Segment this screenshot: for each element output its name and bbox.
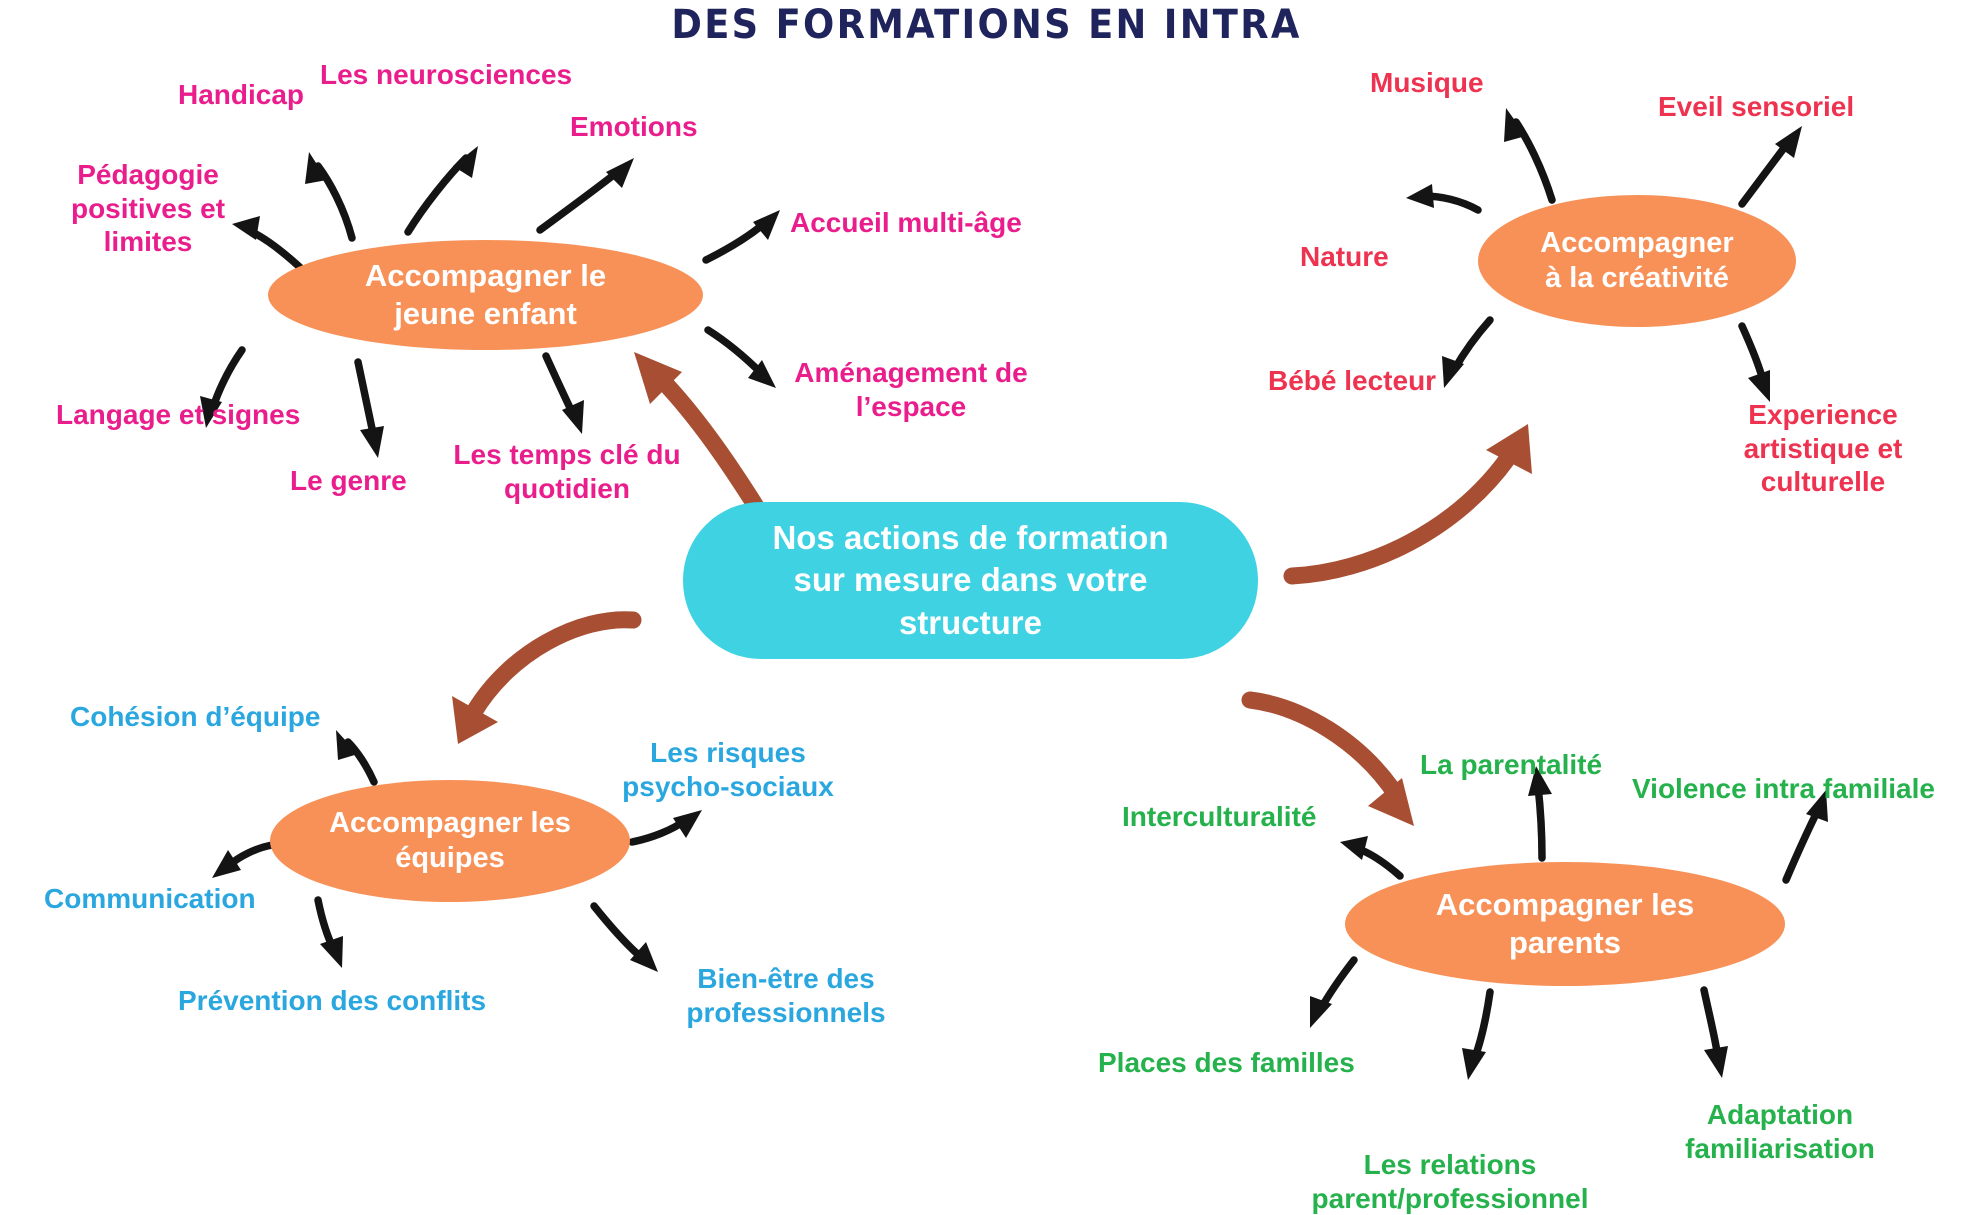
center-node-line1: Nos actions de formation <box>772 519 1168 556</box>
leaf-accueil-multi-age[interactable]: Accueil multi-âge <box>790 206 1022 240</box>
arrow-creativite-to-eveil-sensoriel <box>1742 126 1802 204</box>
branch-line2: parents <box>1509 925 1621 960</box>
brown-arrow-to-creativite <box>1292 424 1532 576</box>
arrow-jeune-enfant-to-amenagement <box>708 330 776 388</box>
arrow-parents-to-relations <box>1462 992 1490 1080</box>
arrow-equipes-to-communication <box>212 845 272 878</box>
branch-line1: Accompagner le <box>365 258 606 293</box>
leaf-bien-etre[interactable]: Bien-être des professionnels <box>678 962 894 1029</box>
arrow-parents-to-places-familles <box>1310 960 1354 1028</box>
leaf-musique[interactable]: Musique <box>1370 66 1484 100</box>
branch-line2: équipes <box>395 842 505 874</box>
leaf-bebe-lecteur[interactable]: Bébé lecteur <box>1268 364 1436 398</box>
branch-line2: jeune enfant <box>394 296 577 331</box>
brown-arrow-to-equipes <box>452 620 633 744</box>
leaf-langage-signes[interactable]: Langage et signes <box>56 398 300 432</box>
branch-line1: Accompagner les <box>1436 887 1694 922</box>
leaf-eveil-sensoriel[interactable]: Eveil sensoriel <box>1658 90 1854 124</box>
leaf-experience-artistique[interactable]: Experience artistique et culturelle <box>1730 398 1916 499</box>
branch-node-parents[interactable]: Accompagner les parents <box>1345 862 1785 986</box>
mindmap-canvas: DES FORMATIONS EN INTRA .bk { fill: none… <box>0 0 1973 1215</box>
leaf-handicap[interactable]: Handicap <box>178 78 304 112</box>
arrow-jeune-enfant-to-neurosciences <box>408 146 478 232</box>
leaf-relations-parent-pro[interactable]: Les relations parent/professionnel <box>1300 1148 1600 1215</box>
leaf-neurosciences[interactable]: Les neurosciences <box>320 58 572 92</box>
arrow-equipes-to-bien-etre <box>594 906 658 972</box>
leaf-nature[interactable]: Nature <box>1300 240 1389 274</box>
leaf-communication[interactable]: Communication <box>44 882 256 916</box>
branch-node-parents-label: Accompagner les parents <box>1436 886 1694 962</box>
branch-node-equipes-label: Accompagner les équipes <box>329 806 571 877</box>
arrow-jeune-enfant-to-accueil-multi-age <box>706 210 780 260</box>
leaf-amenagement[interactable]: Aménagement de l’espace <box>786 356 1036 423</box>
arrow-jeune-enfant-to-handicap <box>305 152 352 238</box>
arrow-equipes-to-risques-psycho <box>632 810 702 842</box>
arrow-jeune-enfant-to-emotions <box>540 158 634 230</box>
branch-node-jeune-enfant[interactable]: Accompagner le jeune enfant <box>268 240 703 350</box>
center-node-label: Nos actions de formation sur mesure dans… <box>772 517 1168 644</box>
leaf-places-familles[interactable]: Places des familles <box>1098 1046 1355 1080</box>
arrow-creativite-to-nature <box>1406 184 1478 210</box>
arrow-creativite-to-bebe-lecteur <box>1442 320 1490 388</box>
branch-line2: à la créativité <box>1545 262 1729 294</box>
leaf-la-parentalite[interactable]: La parentalité <box>1420 748 1602 782</box>
branch-node-equipes[interactable]: Accompagner les équipes <box>270 780 630 902</box>
center-node-line3: structure <box>899 604 1042 641</box>
leaf-interculturalite[interactable]: Interculturalité <box>1122 800 1316 834</box>
leaf-pedagogie[interactable]: Pédagogie positives et limites <box>58 158 238 259</box>
arrow-parents-to-interculturalite <box>1340 836 1400 876</box>
arrow-jeune-enfant-to-le-genre <box>358 362 384 458</box>
branch-line1: Accompagner <box>1540 227 1733 259</box>
leaf-emotions[interactable]: Emotions <box>570 110 698 144</box>
arrow-jeune-enfant-to-pedagogie <box>232 216 306 273</box>
leaf-prevention-conflits[interactable]: Prévention des conflits <box>178 984 486 1018</box>
center-node[interactable]: Nos actions de formation sur mesure dans… <box>683 502 1258 659</box>
arrow-creativite-to-experience <box>1742 326 1770 402</box>
arrow-jeune-enfant-to-temps-cle <box>546 356 584 434</box>
center-node-line2: sur mesure dans votre <box>794 561 1148 598</box>
arrow-equipes-to-prevention <box>318 900 343 968</box>
branch-node-creativite[interactable]: Accompagner à la créativité <box>1478 195 1796 327</box>
branch-node-jeune-enfant-label: Accompagner le jeune enfant <box>365 257 606 333</box>
leaf-cohesion-equipe[interactable]: Cohésion d’équipe <box>70 700 320 734</box>
arrow-creativite-to-musique <box>1504 108 1552 200</box>
arrow-parents-to-adaptation <box>1704 990 1728 1078</box>
branch-line1: Accompagner les <box>329 807 571 839</box>
page-title: DES FORMATIONS EN INTRA <box>79 2 1894 48</box>
arrow-equipes-to-cohesion <box>336 730 374 782</box>
leaf-adaptation-fam[interactable]: Adaptation familiarisation <box>1672 1098 1888 1165</box>
branch-node-creativite-label: Accompagner à la créativité <box>1540 226 1733 297</box>
leaf-temps-cle[interactable]: Les temps clé du quotidien <box>452 438 682 505</box>
leaf-violence-intra[interactable]: Violence intra familiale <box>1632 772 1935 806</box>
leaf-le-genre[interactable]: Le genre <box>290 464 407 498</box>
leaf-risques-psycho[interactable]: Les risques psycho-sociaux <box>622 736 834 803</box>
